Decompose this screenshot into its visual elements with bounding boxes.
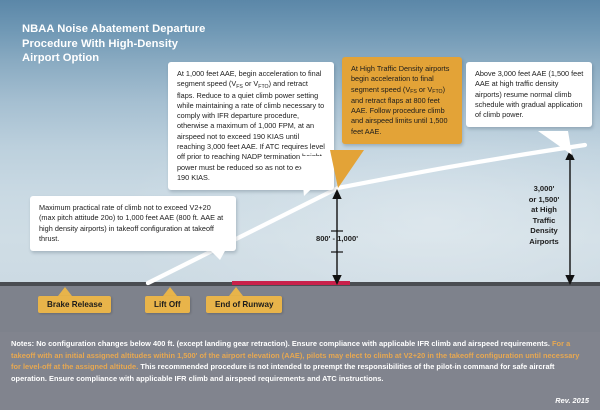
callout1-sub-fs: FS [236,84,243,90]
notes-label: Notes: [11,339,34,348]
revision-label: Rev. 2015 [555,396,589,405]
runway-strip [232,281,350,285]
callout1-sub-fto: FTO [258,84,268,90]
noise-abatement-departure-diagram: NBAA Noise Abatement Departure Procedure… [0,0,600,410]
right-altitude-line-3: at High [522,205,566,216]
mid-altitude-label: 800' - 1,000' [297,234,377,245]
high-traffic-density-callout-tail [322,150,372,192]
notes-panel: Notes: No configuration changes below 40… [0,332,600,410]
page-title-line-2: Procedure With High-Density [22,37,342,52]
high-traffic-density-callout-text: At High Traffic Density airports begin a… [342,57,462,144]
brake-release-tag: Brake Release [38,296,111,313]
brake-release-tag-tip [58,287,72,296]
end-of-runway-tag-tip [229,287,243,296]
page-title: NBAA Noise Abatement Departure Procedure… [22,22,342,66]
callout2-part2: or V [417,85,432,94]
notes-text: Notes: No configuration changes below 40… [11,338,591,384]
callout1-part2: or V [243,79,258,88]
end-of-runway-tag: End of Runway [206,296,282,313]
max-rate-of-climb-callout-tail [198,238,248,262]
right-altitude-line-6: Airports [522,237,566,248]
normal-climb-callout: Above 3,000 feet AAE (1,500 feet AAE at … [466,62,592,127]
right-altitude-label: 3,000' or 1,500' at High Traffic Density… [522,184,566,248]
lift-off-tag: Lift Off [145,296,190,313]
page-title-line-1: NBAA Noise Abatement Departure [22,22,342,37]
notes-segment-1: No configuration changes below 400 ft. (… [34,339,550,348]
callout2-sub-fs: FS [410,89,417,95]
lift-off-tag-tip [163,287,177,296]
right-altitude-line-4: Traffic [522,216,566,227]
right-altitude-line-5: Density [522,226,566,237]
normal-climb-callout-tail [538,131,584,157]
normal-climb-callout-text: Above 3,000 feet AAE (1,500 feet AAE at … [466,62,592,127]
callout2-sub-fto: FTO [432,89,442,95]
high-traffic-density-callout: At High Traffic Density airports begin a… [342,57,462,144]
right-altitude-line-2: or 1,500' [522,195,566,206]
right-altitude-line-1: 3,000' [522,184,566,195]
